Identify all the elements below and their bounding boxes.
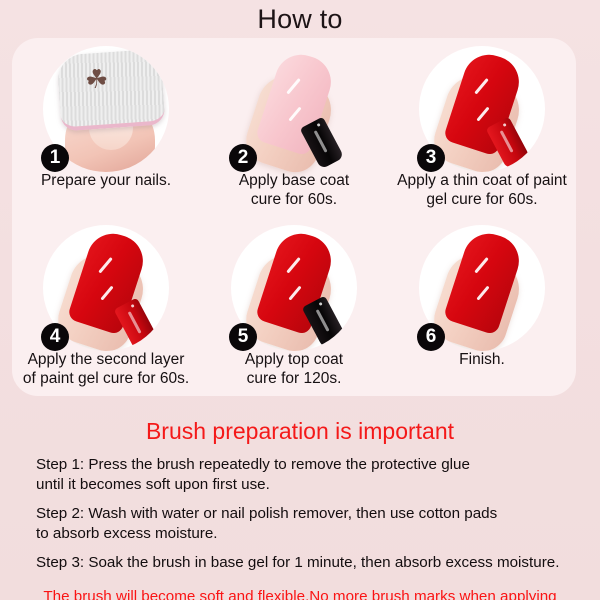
step-number-badge: 6	[417, 323, 445, 351]
step-6: 6 Finish.	[388, 217, 576, 396]
step-3-caption: Apply a thin coat of paint gel cure for …	[390, 172, 574, 209]
prep-note: The brush will become soft and flexible.…	[0, 587, 600, 600]
brush-slit	[316, 309, 330, 332]
brush-slit	[500, 130, 514, 153]
brush-dot	[503, 123, 507, 127]
brush-preparation-section: Brush preparation is important Step 1: P…	[0, 398, 600, 600]
nail-plate-red	[443, 227, 526, 336]
step-6-media: 6	[415, 225, 549, 351]
step-5-caption: Apply top coat cure for 120s.	[202, 351, 386, 388]
prep-step-1: Step 1: Press the brush repeatedly to re…	[0, 455, 600, 495]
step-2: 2 Apply base coat cure for 60s.	[200, 38, 388, 217]
step-1-media: ☘ 1	[39, 46, 173, 172]
step-number-badge: 5	[229, 323, 257, 351]
clover-icon: ☘	[85, 66, 108, 92]
brush-slit	[128, 311, 142, 334]
how-to-poster: How to ☘ 1 Prepare your nails.	[0, 0, 600, 600]
step-2-caption: Apply base coat cure for 60s.	[202, 172, 386, 209]
brush-dot	[319, 302, 323, 306]
step-number-badge: 4	[41, 323, 69, 351]
step-4-caption: Apply the second layer of paint gel cure…	[14, 351, 198, 388]
brush-dot	[317, 123, 321, 127]
step-number-badge: 1	[41, 144, 69, 172]
brush-slit	[314, 130, 328, 153]
step-5: 5 Apply top coat cure for 120s.	[200, 217, 388, 396]
prep-step-2: Step 2: Wash with water or nail polish r…	[0, 504, 600, 544]
page-title: How to	[0, 2, 600, 36]
steps-card: ☘ 1 Prepare your nails.	[12, 38, 576, 396]
step-2-media: 2	[227, 46, 361, 172]
finger-illustration	[429, 225, 536, 351]
step-number-badge: 3	[417, 144, 445, 172]
steps-grid: ☘ 1 Prepare your nails.	[12, 38, 576, 396]
step-4-media: 4	[39, 225, 173, 351]
step-1: ☘ 1 Prepare your nails.	[12, 38, 200, 217]
step-number-badge: 2	[229, 144, 257, 172]
brush-dot	[131, 304, 135, 308]
step-6-caption: Finish.	[390, 351, 574, 370]
step-1-caption: Prepare your nails.	[14, 172, 198, 191]
step-3-media: 3	[415, 46, 549, 172]
step-4: 4 Apply the second layer of paint gel cu…	[12, 217, 200, 396]
step-5-media: 5	[227, 225, 361, 351]
prep-title: Brush preparation is important	[0, 416, 600, 446]
nail-file-icon	[56, 48, 165, 131]
prep-step-3: Step 3: Soak the brush in base gel for 1…	[0, 553, 600, 573]
step-3: 3 Apply a thin coat of paint gel cure fo…	[388, 38, 576, 217]
